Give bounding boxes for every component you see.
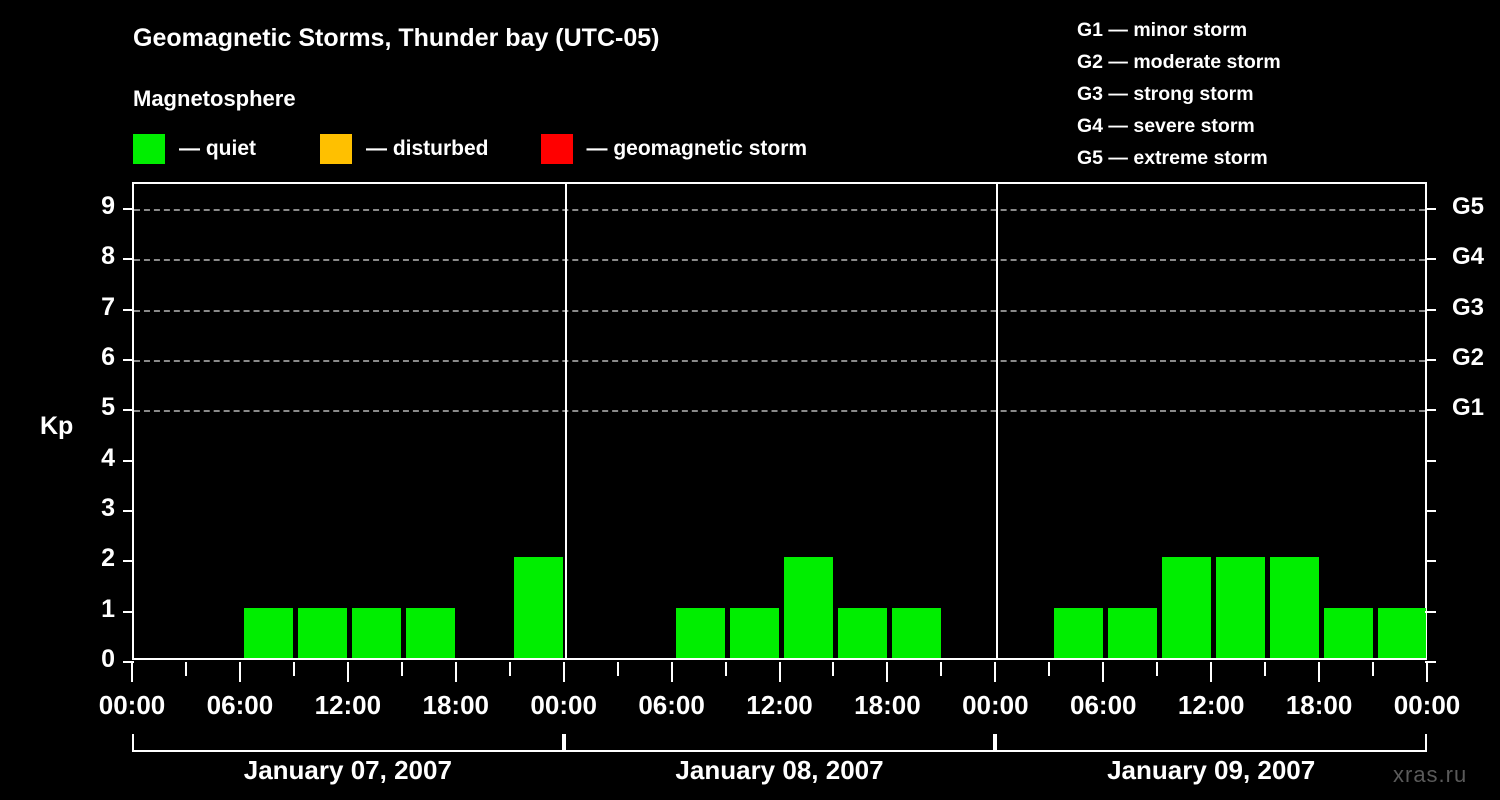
kp-bar <box>1216 557 1265 658</box>
x-tick-23 <box>1372 662 1374 676</box>
y-tick-left-3 <box>123 510 134 512</box>
y-tick-left-5 <box>123 409 134 411</box>
gridline-kp-7 <box>134 310 1425 312</box>
x-axis-label-3: 18:00 <box>423 690 490 721</box>
y-tick-right-5 <box>1425 409 1436 411</box>
legend-label-2: — geomagnetic storm <box>587 137 808 161</box>
y-axis-label-9: 9 <box>75 194 115 219</box>
x-tick-4 <box>347 662 349 682</box>
x-tick-0 <box>131 662 133 682</box>
g-axis-label-g1: G1 <box>1452 396 1484 420</box>
g-axis-label-g4: G4 <box>1452 245 1484 269</box>
y-axis-label-5: 5 <box>75 395 115 420</box>
day-caption-0: January 07, 2007 <box>244 755 452 786</box>
x-tick-1 <box>185 662 187 676</box>
legend-label-1: — disturbed <box>366 137 489 161</box>
x-tick-15 <box>940 662 942 676</box>
x-axis-label-11: 18:00 <box>1286 690 1353 721</box>
x-axis-label-12: 00:00 <box>1394 690 1461 721</box>
x-tick-9 <box>617 662 619 676</box>
magnetosphere-label: Magnetosphere <box>133 86 296 112</box>
kp-bar <box>244 608 293 658</box>
color-legend: — quiet— disturbed— geomagnetic storm <box>133 133 807 165</box>
x-axis-label-1: 06:00 <box>207 690 274 721</box>
x-tick-12 <box>779 662 781 682</box>
y-tick-left-2 <box>123 560 134 562</box>
g-legend-row-3: G3 — strong storm <box>1077 78 1281 110</box>
y-tick-right-6 <box>1425 359 1436 361</box>
y-axis-label-1: 1 <box>75 597 115 622</box>
legend-item-0: — quiet <box>133 134 256 164</box>
g-axis-label-g2: G2 <box>1452 346 1484 370</box>
x-tick-18 <box>1102 662 1104 682</box>
kp-bar <box>406 608 455 658</box>
y-axis-label-6: 6 <box>75 345 115 370</box>
day-bracket-0 <box>132 734 564 752</box>
x-tick-20 <box>1210 662 1212 682</box>
x-axis-label-2: 12:00 <box>315 690 382 721</box>
y-axis-label-2: 2 <box>75 546 115 571</box>
g-legend-row-4: G4 — severe storm <box>1077 110 1281 142</box>
kp-bar <box>1378 608 1427 658</box>
legend-item-2: — geomagnetic storm <box>541 134 808 164</box>
y-tick-right-2 <box>1425 560 1436 562</box>
day-bracket-1 <box>564 734 996 752</box>
plot-inner <box>134 184 1425 658</box>
y-axis-label-3: 3 <box>75 496 115 521</box>
y-axis-label-4: 4 <box>75 446 115 471</box>
x-axis-label-5: 06:00 <box>638 690 705 721</box>
y-tick-left-6 <box>123 359 134 361</box>
x-tick-19 <box>1156 662 1158 676</box>
y-tick-left-9 <box>123 208 134 210</box>
x-axis-label-8: 00:00 <box>962 690 1029 721</box>
day-caption-2: January 09, 2007 <box>1107 755 1315 786</box>
kp-bar <box>892 608 941 658</box>
kp-bar <box>514 557 563 658</box>
gridline-kp-9 <box>134 209 1425 211</box>
x-tick-3 <box>293 662 295 676</box>
g-legend-row-2: G2 — moderate storm <box>1077 46 1281 78</box>
g-axis-label-g5: G5 <box>1452 195 1484 219</box>
kp-bar <box>1108 608 1157 658</box>
legend-label-0: — quiet <box>179 137 256 161</box>
y-tick-left-8 <box>123 258 134 260</box>
kp-bar <box>1054 608 1103 658</box>
y-axis-label-8: 8 <box>75 244 115 269</box>
legend-item-1: — disturbed <box>320 134 489 164</box>
kp-bar <box>838 608 887 658</box>
x-tick-11 <box>725 662 727 676</box>
day-caption-1: January 08, 2007 <box>675 755 883 786</box>
y-tick-right-3 <box>1425 510 1436 512</box>
x-tick-14 <box>886 662 888 682</box>
kp-bar <box>676 608 725 658</box>
x-tick-13 <box>832 662 834 676</box>
page-title: Geomagnetic Storms, Thunder bay (UTC-05) <box>133 24 659 53</box>
kp-bar <box>1324 608 1373 658</box>
x-axis-label-9: 06:00 <box>1070 690 1137 721</box>
gridline-kp-5 <box>134 410 1425 412</box>
plot-area <box>132 182 1427 660</box>
x-tick-17 <box>1048 662 1050 676</box>
day-bracket-2 <box>995 734 1427 752</box>
day-divider-2 <box>996 184 998 658</box>
y-tick-right-1 <box>1425 611 1436 613</box>
x-tick-7 <box>509 662 511 676</box>
y-tick-right-7 <box>1425 309 1436 311</box>
y-tick-right-9 <box>1425 208 1436 210</box>
kp-bar <box>1270 557 1319 658</box>
x-tick-21 <box>1264 662 1266 676</box>
y-tick-left-1 <box>123 611 134 613</box>
x-axis-label-4: 00:00 <box>530 690 597 721</box>
x-tick-8 <box>563 662 565 682</box>
x-tick-10 <box>671 662 673 682</box>
kp-bar <box>298 608 347 658</box>
disturbed-swatch <box>320 134 352 164</box>
g-legend-row-1: G1 — minor storm <box>1077 14 1281 46</box>
y-tick-right-8 <box>1425 258 1436 260</box>
x-tick-5 <box>401 662 403 676</box>
y-axis-label-7: 7 <box>75 295 115 320</box>
y-axis-label-0: 0 <box>75 647 115 672</box>
x-tick-6 <box>455 662 457 682</box>
kp-bar <box>784 557 833 658</box>
x-tick-22 <box>1318 662 1320 682</box>
kp-bar <box>730 608 779 658</box>
gridline-kp-8 <box>134 259 1425 261</box>
x-tick-16 <box>994 662 996 682</box>
y-tick-right-4 <box>1425 460 1436 462</box>
kp-bar <box>1162 557 1211 658</box>
x-tick-24 <box>1426 662 1428 682</box>
x-axis-label-10: 12:00 <box>1178 690 1245 721</box>
x-axis-label-6: 12:00 <box>746 690 813 721</box>
x-tick-2 <box>239 662 241 682</box>
quiet-swatch <box>133 134 165 164</box>
watermark: xras.ru <box>1393 762 1467 788</box>
g-scale-legend: G1 — minor stormG2 — moderate stormG3 — … <box>1077 14 1281 174</box>
y-axis-title: Kp <box>40 412 73 441</box>
kp-bar <box>352 608 401 658</box>
day-divider-1 <box>565 184 567 658</box>
x-axis-label-7: 18:00 <box>854 690 921 721</box>
g-legend-row-5: G5 — extreme storm <box>1077 142 1281 174</box>
y-tick-left-4 <box>123 460 134 462</box>
x-axis-label-0: 00:00 <box>99 690 166 721</box>
geomagnetic-storm-swatch <box>541 134 573 164</box>
gridline-kp-6 <box>134 360 1425 362</box>
y-tick-left-7 <box>123 309 134 311</box>
g-axis-label-g3: G3 <box>1452 296 1484 320</box>
